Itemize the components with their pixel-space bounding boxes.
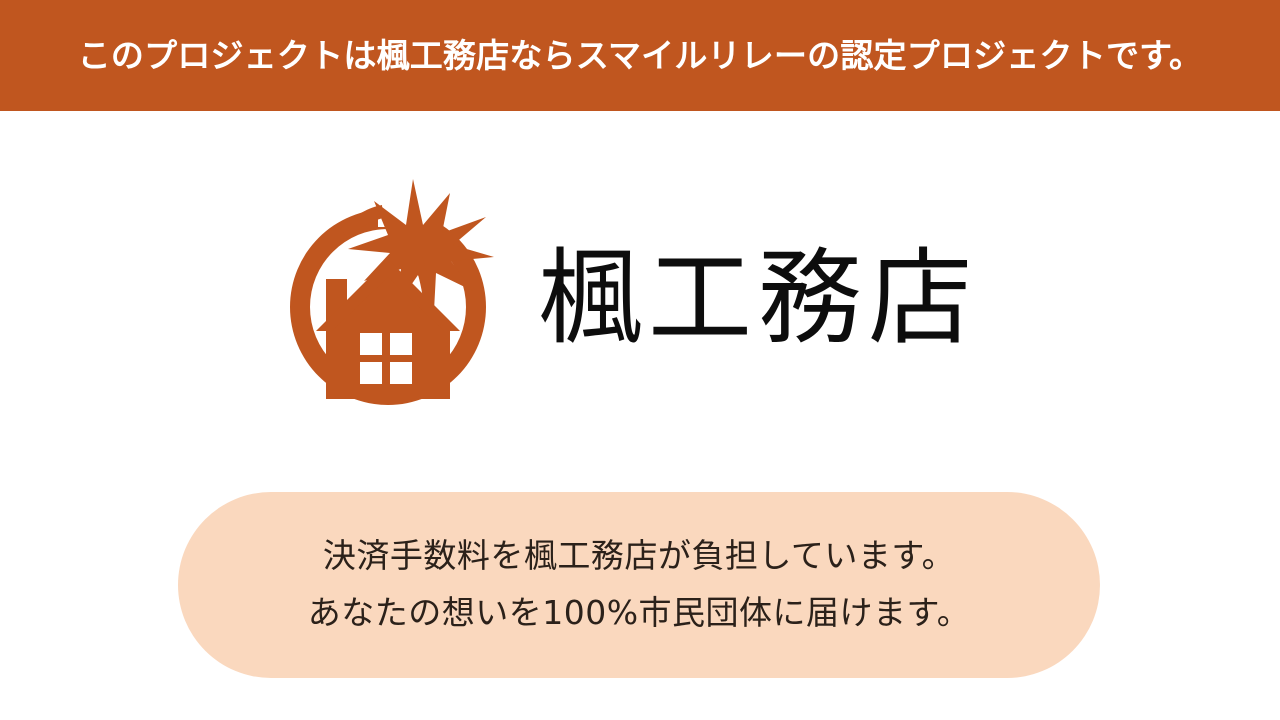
brand-logo: 楓工務店 <box>0 111 1280 481</box>
fee-coverage-notice-line-1: 決済手数料を楓工務店が負担しています。 <box>323 528 955 585</box>
house-base-shape <box>326 381 450 399</box>
maple-house-circle-logo-icon <box>282 171 494 421</box>
page-root: このプロジェクトは楓工務店ならスマイルリレーの認定プロジェクトです。 <box>0 0 1280 720</box>
fee-coverage-notice-line-2: あなたの想いを100%市民団体に届けます。 <box>308 585 971 642</box>
fee-coverage-notice: 決済手数料を楓工務店が負担しています。 あなたの想いを100%市民団体に届けます… <box>178 492 1100 678</box>
brand-wordmark: 楓工務店 <box>538 246 978 350</box>
brand-logo-inner: 楓工務店 <box>282 171 978 421</box>
certification-banner: このプロジェクトは楓工務店ならスマイルリレーの認定プロジェクトです。 <box>0 0 1280 111</box>
certification-banner-text: このプロジェクトは楓工務店ならスマイルリレーの認定プロジェクトです。 <box>78 36 1203 76</box>
